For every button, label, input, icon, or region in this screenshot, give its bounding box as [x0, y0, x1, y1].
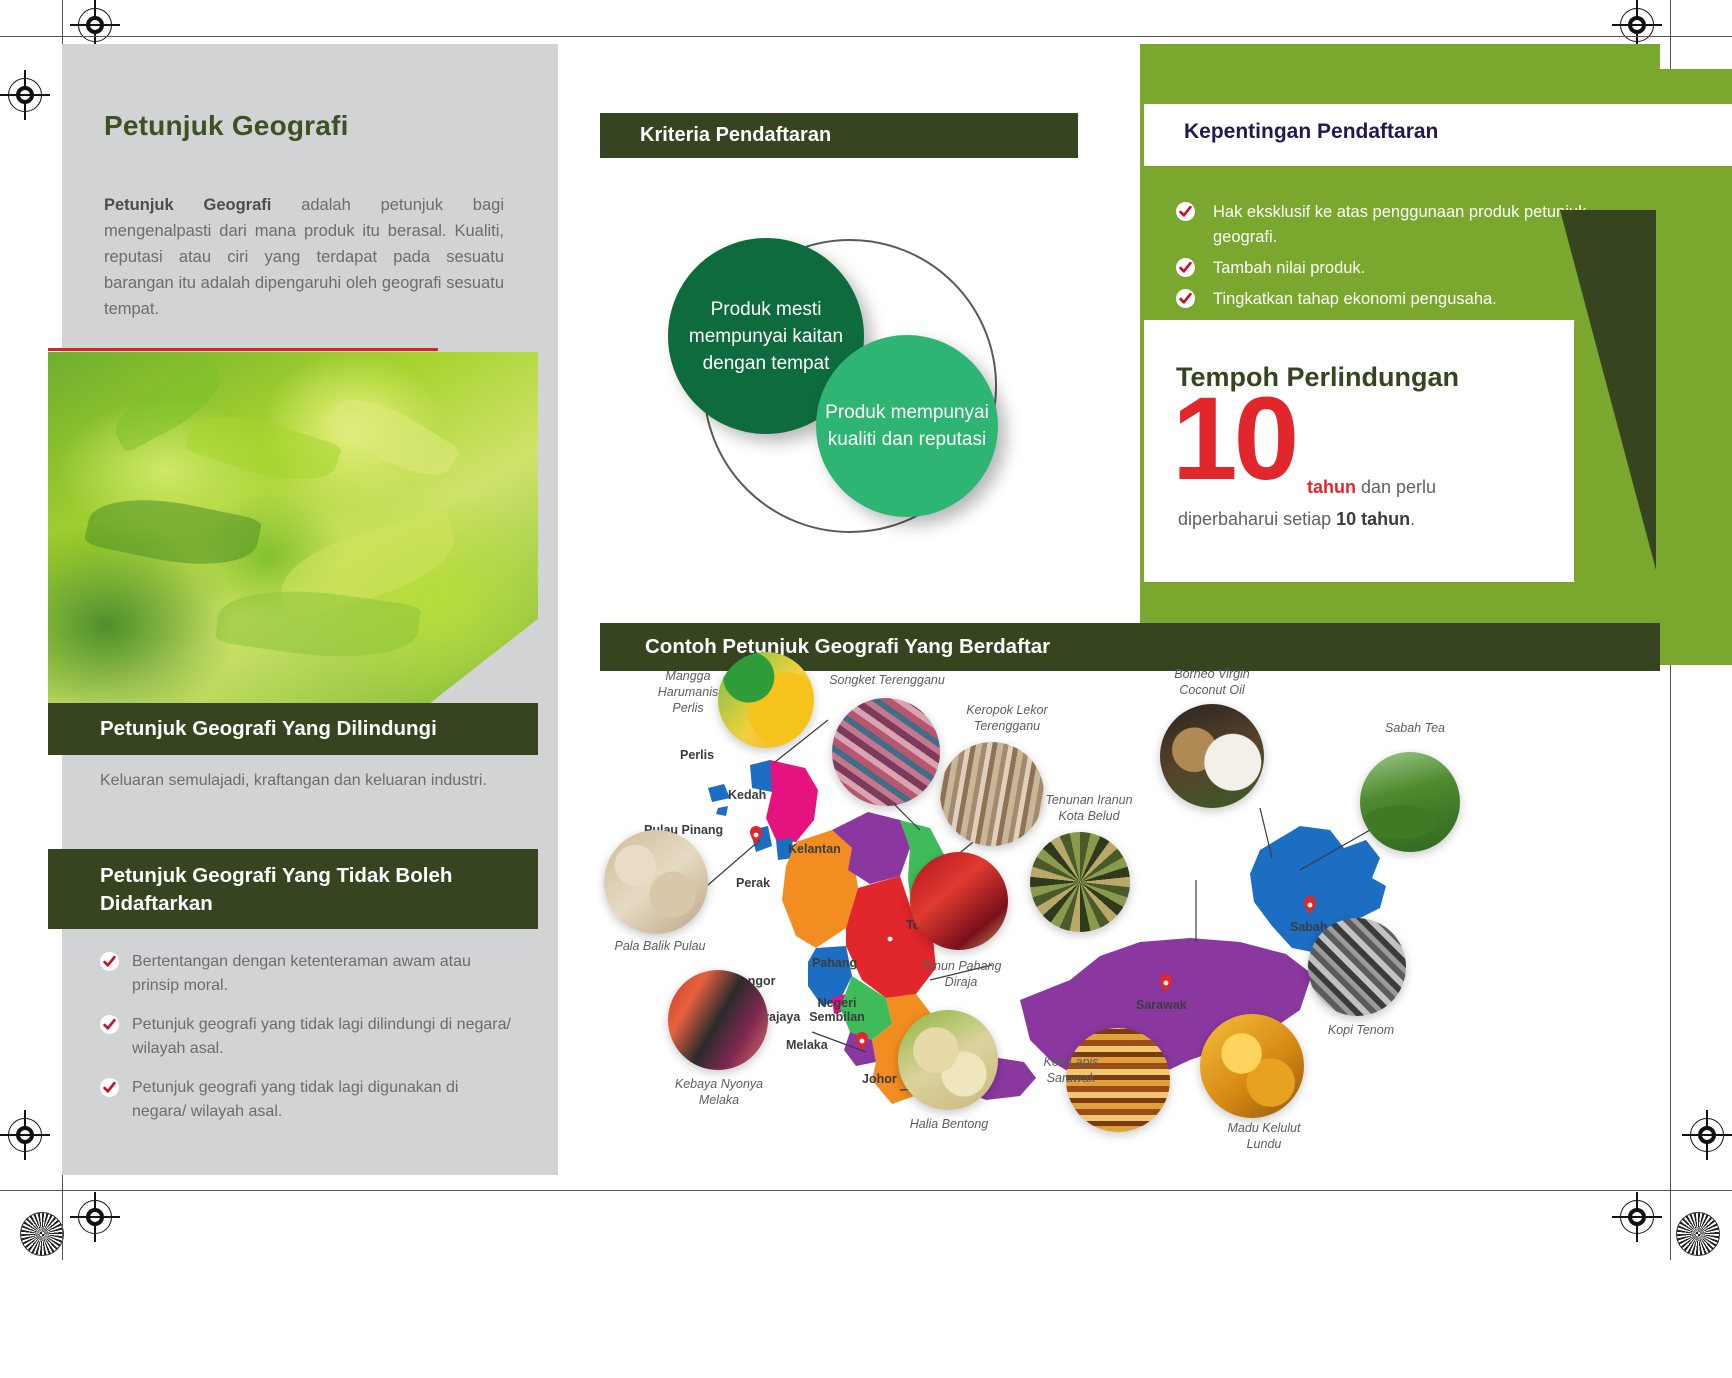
- check-icon: [100, 1015, 119, 1034]
- state-kedah: [766, 760, 818, 842]
- product-label-sabah-tea: Sabah Tea: [1370, 720, 1460, 736]
- examples-band-title: Contoh Petunjuk Geografi Yang Berdaftar: [645, 635, 1050, 659]
- list-item-text: Tambah nilai produk.: [1213, 259, 1365, 277]
- section-protected-gi-band: Petunjuk Geografi Yang Dilindungi: [48, 703, 538, 755]
- color-rosette-left: [20, 1212, 64, 1256]
- product-label-pala-balik-pulau: Pala Balik Pulau: [614, 938, 706, 954]
- color-rosette-right: [1676, 1212, 1720, 1256]
- state-label-pahang: Pahang: [812, 956, 857, 970]
- protection-card-notch-bottom: [1480, 487, 1575, 582]
- renew-bold: 10 tahun: [1336, 509, 1410, 529]
- red-rule: [48, 348, 438, 351]
- state-label-perak: Perak: [736, 876, 770, 890]
- product-label-halia-bentong: Halia Bentong: [906, 1116, 992, 1132]
- list-item-text: Bertentangan dengan ketenteraman awam at…: [132, 953, 471, 994]
- product-label-kopi-tenom: Kopi Tenom: [1318, 1022, 1404, 1038]
- section-protected-gi-body: Keluaran semulajadi, kraftangan dan kelu…: [100, 768, 500, 793]
- list-item: Tingkatkan tahap ekonomi pengusaha.: [1176, 287, 1626, 312]
- state-label-perlis: Perlis: [680, 748, 714, 762]
- protection-unit-line: tahun dan perlu: [1307, 477, 1436, 498]
- list-item: Tambah nilai produk.: [1176, 256, 1626, 281]
- check-icon: [100, 952, 119, 971]
- state-label-kedah: Kedah: [728, 788, 766, 802]
- check-icon: [1176, 202, 1195, 221]
- section-nonregistrable-gi-band: Petunjuk Geografi Yang Tidak Boleh Didaf…: [48, 849, 538, 929]
- criteria-band: Kriteria Pendaftaran: [600, 113, 1078, 158]
- criteria-venn-diagram: Produk mesti mempunyai kaitan dengan tem…: [595, 215, 1065, 545]
- registration-mark-bottom-left: [8, 1118, 42, 1152]
- check-icon: [1176, 258, 1195, 277]
- list-item: Bertentangan dengan ketenteraman awam at…: [100, 950, 515, 998]
- registration-mark-base-right: [1620, 1200, 1654, 1234]
- brochure-page: Petunjuk Geografi Petunjuk Geografi adal…: [0, 0, 1732, 1378]
- importance-title: Kepentingan Pendaftaran: [1184, 120, 1438, 144]
- state-label-sarawak: Sarawak: [1136, 998, 1187, 1012]
- product-label-kek-lapis-sarawak: Kek LapisSarawak: [1024, 1054, 1118, 1086]
- state-label-negeri-sembilan: Negeri Sembilan: [804, 996, 870, 1024]
- intro-paragraph: Petunjuk Geografi adalah petunjuk bagi m…: [104, 192, 504, 322]
- product-label-mangga-harumanis-perlis: ManggaHarumanisPerlis: [628, 668, 748, 716]
- state-label-kelantan: Kelantan: [788, 842, 841, 856]
- check-icon: [100, 1078, 119, 1097]
- product-photo-tenunan-iranun-kota-belud: [1030, 832, 1130, 932]
- product-label-tenunan-iranun-kota-belud: Tenunan IranunKota Belud: [1034, 792, 1144, 824]
- nonregistrable-list: Bertentangan dengan ketenteraman awam at…: [100, 950, 515, 1139]
- importance-list: Hak eksklusif ke atas penggunaan produk …: [1176, 200, 1626, 318]
- product-label-keropok-lekor-terengganu: Keropok LekorTerengganu: [948, 702, 1066, 734]
- crop-mark-top: [0, 36, 1732, 37]
- list-item-text: Tingkatkan tahap ekonomi pengusaha.: [1213, 290, 1497, 308]
- crop-mark-bottom: [0, 1190, 1732, 1191]
- renew-suffix: .: [1410, 509, 1415, 529]
- registration-mark-base-left: [78, 1200, 112, 1234]
- product-photo-pala-balik-pulau: [604, 830, 708, 934]
- green-panel-top-strip: [1140, 44, 1660, 69]
- product-label-borneo-virgin-coconut-oil: Borneo VirginCoconut Oil: [1156, 666, 1268, 698]
- protection-after-unit: dan perlu: [1356, 477, 1436, 497]
- list-item-text: Petunjuk geografi yang tidak lagi diguna…: [132, 1079, 458, 1120]
- product-label-madu-kelulut-lundu: Madu KelulutLundu: [1212, 1120, 1316, 1152]
- product-label-songket-terengganu: Songket Terengganu: [824, 672, 950, 688]
- malaysia-map: Perlis Kedah Pulau Pinang Perak Kelantan…: [600, 680, 1660, 1160]
- product-label-kebaya-nyonya-melaka: Kebaya NyonyaMelaka: [666, 1076, 772, 1108]
- venn-circle-quality: Produk mempunyai kualiti dan reputasi: [816, 335, 998, 517]
- product-photo-songket-terengganu: [832, 698, 940, 806]
- tea-plant-photo-block: [48, 348, 538, 703]
- product-photo-madu-kelulut-lundu: [1200, 1014, 1304, 1118]
- product-photo-kebaya-nyonya-melaka: [668, 970, 768, 1070]
- list-item: Hak eksklusif ke atas penggunaan produk …: [1176, 200, 1626, 250]
- protection-number: 10: [1172, 380, 1295, 498]
- state-label-melaka: Melaka: [786, 1038, 828, 1052]
- intro-rest: adalah petunjuk bagi mengenalpasti dari …: [104, 196, 504, 318]
- protection-renewal-line: diperbaharui setiap 10 tahun.: [1178, 509, 1415, 530]
- product-photo-keropok-lekor-terengganu: [940, 742, 1044, 846]
- state-label-johor: Johor: [862, 1072, 897, 1086]
- page-title: Petunjuk Geografi: [104, 110, 534, 142]
- product-photo-halia-bentong: [898, 1010, 998, 1110]
- registration-mark-mid-left: [8, 78, 42, 112]
- product-photo-kopi-tenom: [1308, 918, 1406, 1016]
- list-item-text: Petunjuk geografi yang tidak lagi dilind…: [132, 1016, 511, 1057]
- intro-bold-term: Petunjuk Geografi: [104, 196, 271, 214]
- check-icon: [1176, 289, 1195, 308]
- section-protected-gi-title: Petunjuk Geografi Yang Dilindungi: [100, 715, 437, 743]
- state-perlis-isles: [708, 784, 730, 816]
- list-item: Petunjuk geografi yang tidak lagi dilind…: [100, 1013, 515, 1061]
- renew-prefix: diperbaharui setiap: [1178, 509, 1336, 529]
- product-label-tenun-pahang-diraja: Tenun PahangDiraja: [912, 958, 1010, 990]
- product-photo-tenun-pahang-diraja: [910, 852, 1008, 950]
- product-photo-sabah-tea: [1360, 752, 1460, 852]
- list-item: Petunjuk geografi yang tidak lagi diguna…: [100, 1076, 515, 1124]
- protection-card-notch-top: [1480, 320, 1575, 415]
- list-item-text: Hak eksklusif ke atas penggunaan produk …: [1213, 203, 1586, 246]
- protection-unit: tahun: [1307, 477, 1356, 497]
- section-nonregistrable-gi-title: Petunjuk Geografi Yang Tidak Boleh Didaf…: [100, 862, 500, 918]
- tea-leaves-photo: [48, 352, 538, 703]
- registration-mark-bottom-right: [1690, 1118, 1724, 1152]
- product-photo-borneo-virgin-coconut-oil: [1160, 704, 1264, 808]
- criteria-band-title: Kriteria Pendaftaran: [640, 124, 831, 147]
